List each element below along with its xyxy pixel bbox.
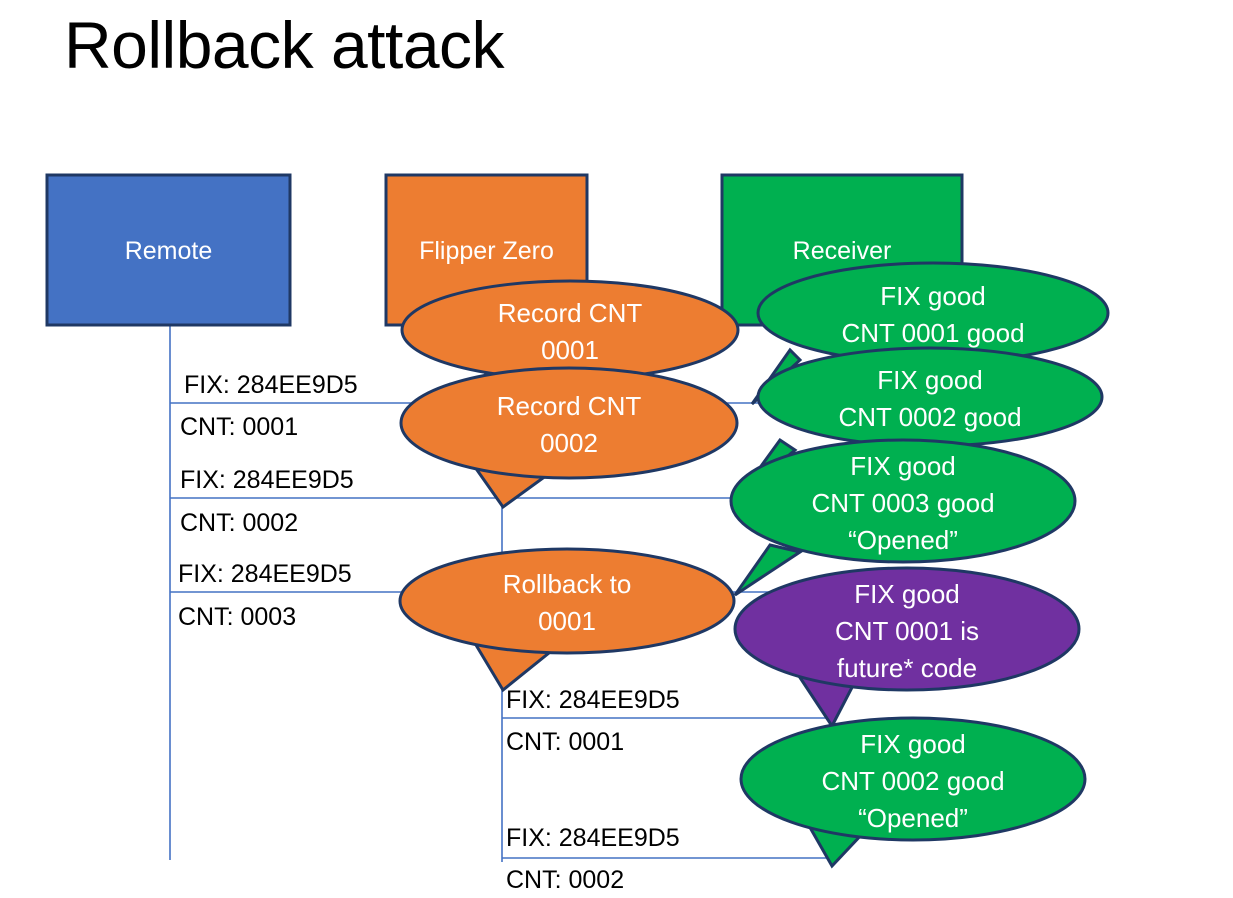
message-1-fix: FIX: 284EE9D5: [184, 371, 358, 401]
callout-line: Record CNT: [401, 388, 737, 425]
callout-line: “Opened”: [728, 522, 1078, 559]
callout-line: FIX good: [758, 278, 1108, 315]
message-3-fix: FIX: 284EE9D5: [178, 560, 352, 590]
callout-line: 0001: [402, 332, 738, 369]
callout-line: Rollback to: [399, 566, 735, 603]
message-5-fix: FIX: 284EE9D5: [506, 824, 680, 854]
callout-line: FIX good: [732, 576, 1082, 613]
callout-text-fix-good-cnt-0001-future-code: FIX good CNT 0001 is future* code: [732, 576, 1082, 687]
callout-text-fix-good-cnt-0001-good: FIX good CNT 0001 good: [758, 278, 1108, 352]
callout-line: CNT 0002 good: [738, 763, 1088, 800]
message-2-cnt: CNT: 0002: [180, 509, 298, 539]
callout-line: “Opened”: [738, 800, 1088, 837]
actor-label-flipper: Flipper Zero: [386, 236, 587, 267]
callout-line: CNT 0003 good: [728, 485, 1078, 522]
callout-line: CNT 0001 is: [732, 613, 1082, 650]
callout-text-fix-good-cnt-0002-good: FIX good CNT 0002 good: [755, 362, 1105, 436]
message-2-fix: FIX: 284EE9D5: [180, 466, 354, 496]
message-4-fix: FIX: 284EE9D5: [506, 686, 680, 716]
message-1-cnt: CNT: 0001: [180, 413, 298, 443]
message-3-cnt: CNT: 0003: [178, 603, 296, 633]
actor-label-remote: Remote: [47, 236, 290, 267]
callout-text-fix-good-cnt-0002-good-opened: FIX good CNT 0002 good “Opened”: [738, 726, 1088, 837]
message-4-cnt: CNT: 0001: [506, 728, 624, 758]
message-5-cnt: CNT: 0002: [506, 866, 624, 896]
callout-line: future* code: [732, 650, 1082, 687]
callout-line: FIX good: [755, 362, 1105, 399]
callout-line: 0002: [401, 425, 737, 462]
callout-line: CNT 0002 good: [755, 399, 1105, 436]
actor-label-receiver: Receiver: [722, 236, 962, 267]
callout-line: FIX good: [728, 448, 1078, 485]
callout-line: 0001: [399, 603, 735, 640]
callout-text-fix-good-cnt-0003-good-opened: FIX good CNT 0003 good “Opened”: [728, 448, 1078, 559]
callout-line: Record CNT: [402, 295, 738, 332]
callout-line: CNT 0001 good: [758, 315, 1108, 352]
callout-text-record-cnt-0001: Record CNT 0001: [402, 295, 738, 369]
callout-line: FIX good: [738, 726, 1088, 763]
callout-text-rollback-to-0001: Rollback to 0001: [399, 566, 735, 640]
slide-canvas: Rollback attack: [0, 0, 1233, 898]
callout-text-record-cnt-0002: Record CNT 0002: [401, 388, 737, 462]
